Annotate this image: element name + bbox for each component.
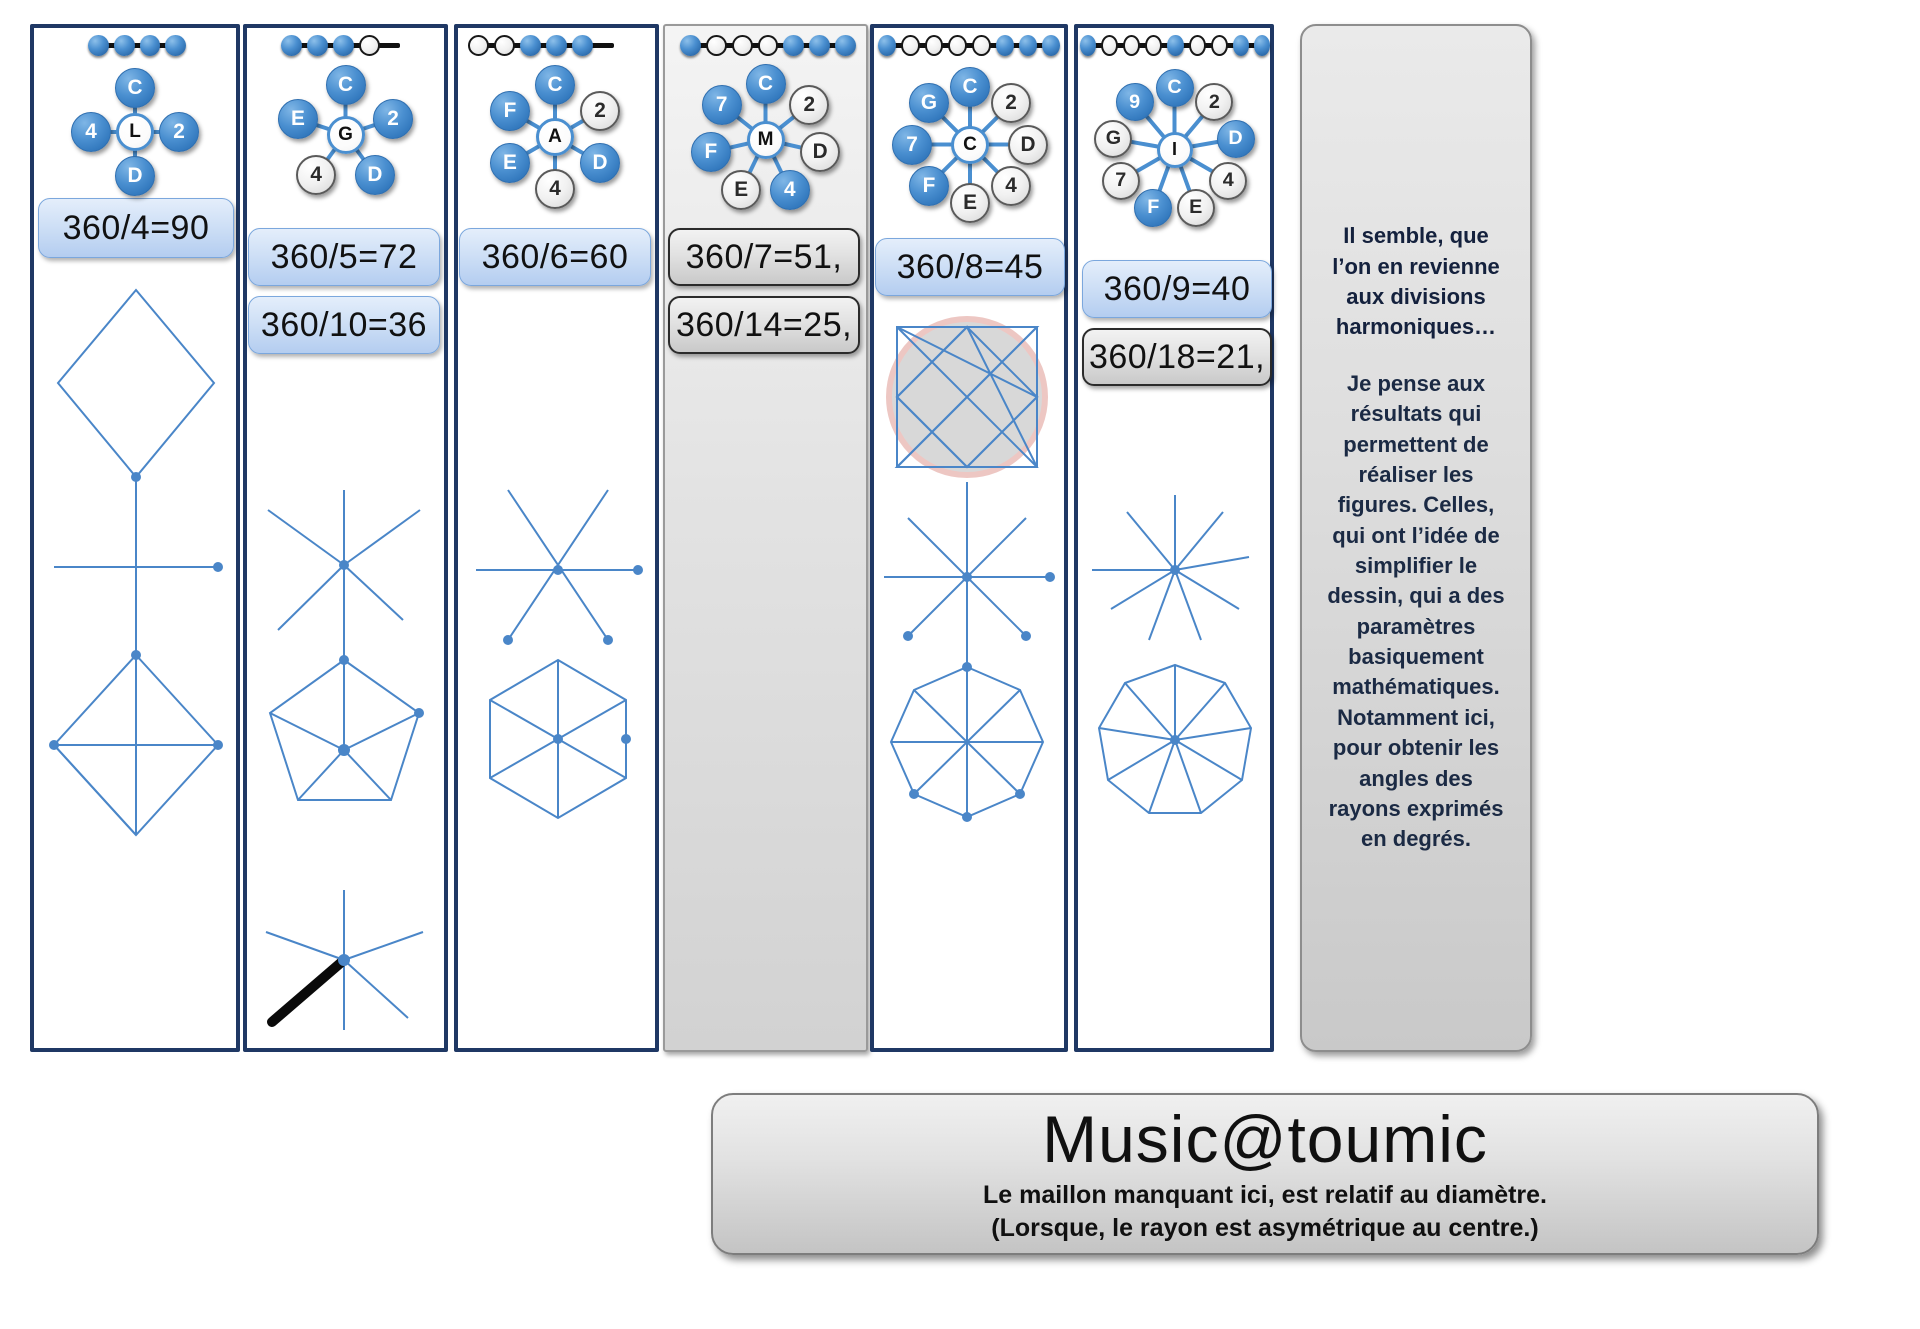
node-graph-5: C2D4EG bbox=[263, 62, 428, 207]
formula-360-10[interactable]: 360/10=36 bbox=[248, 296, 440, 354]
side-note-paragraph-2: Je pense aux résultats qui permettent de… bbox=[1322, 369, 1510, 855]
figure-group-8 bbox=[872, 312, 1067, 852]
bead-filled[interactable] bbox=[835, 35, 856, 56]
graph-node-C[interactable]: C bbox=[950, 67, 990, 107]
bead-hollow[interactable] bbox=[359, 35, 380, 56]
graph-node-C[interactable]: C bbox=[115, 68, 155, 108]
graph-node-2[interactable]: 2 bbox=[159, 112, 199, 152]
bead-filled[interactable] bbox=[783, 35, 804, 56]
bead-hollow[interactable] bbox=[901, 35, 920, 56]
bead-hollow[interactable] bbox=[706, 35, 727, 56]
graph-node-4[interactable]: 4 bbox=[770, 170, 810, 210]
formula-360-4[interactable]: 360/4=90 bbox=[38, 198, 234, 258]
figure-group-4 bbox=[36, 270, 236, 870]
figure-group-9 bbox=[1080, 480, 1275, 850]
graph-node-C[interactable]: C bbox=[535, 65, 575, 105]
bead-filled[interactable] bbox=[1167, 35, 1183, 56]
graph-node-C[interactable]: C bbox=[1156, 69, 1194, 107]
graph-node-2[interactable]: 2 bbox=[789, 85, 829, 125]
slide-canvas: C2D4L 360/4=90 bbox=[0, 0, 1920, 1329]
graph-node-4[interactable]: 4 bbox=[1209, 162, 1247, 200]
graph-node-C[interactable]: C bbox=[326, 65, 366, 105]
graph-node-D[interactable]: D bbox=[800, 132, 840, 172]
banner-subtitle-1: Le maillon manquant ici, est relatif au … bbox=[983, 1181, 1547, 1210]
formula-360-18[interactable]: 360/18=21, bbox=[1082, 328, 1272, 386]
graph-node-E[interactable]: E bbox=[721, 170, 761, 210]
bead-filled[interactable] bbox=[165, 35, 186, 56]
graph-node-E[interactable]: E bbox=[490, 143, 530, 183]
node-graph-9: C2D4EF7G9I bbox=[1082, 62, 1267, 237]
formula-360-14[interactable]: 360/14=25, bbox=[668, 296, 860, 354]
formula-360-9[interactable]: 360/9=40 bbox=[1082, 260, 1272, 318]
title-banner[interactable]: Music@toumic Le maillon manquant ici, es… bbox=[711, 1093, 1819, 1255]
bead-hollow[interactable] bbox=[925, 35, 944, 56]
bead-filled[interactable] bbox=[1080, 35, 1096, 56]
graph-node-D[interactable]: D bbox=[355, 155, 395, 195]
bead-filled[interactable] bbox=[1042, 35, 1060, 56]
bead-filled[interactable] bbox=[1254, 35, 1270, 56]
graph-node-E[interactable]: E bbox=[950, 183, 990, 223]
graph-node-4[interactable]: 4 bbox=[71, 112, 111, 152]
bead-hollow[interactable] bbox=[1101, 35, 1118, 56]
graph-node-E[interactable]: E bbox=[278, 99, 318, 139]
bead-strip-5 bbox=[281, 34, 406, 56]
bead-filled[interactable] bbox=[996, 35, 1014, 56]
banner-subtitle-2: (Lorsque, le rayon est asymétrique au ce… bbox=[991, 1214, 1538, 1243]
graph-node-7[interactable]: 7 bbox=[1102, 162, 1140, 200]
side-note-paragraph-1: Il semble, que l’on en revienne aux divi… bbox=[1322, 221, 1510, 342]
bead-strip-8 bbox=[878, 34, 1060, 56]
bead-filled[interactable] bbox=[1019, 35, 1037, 56]
graph-center-node-M[interactable]: M bbox=[747, 121, 785, 159]
bead-strip-4 bbox=[88, 34, 186, 56]
bead-hollow[interactable] bbox=[948, 35, 967, 56]
bead-filled[interactable] bbox=[809, 35, 830, 56]
graph-node-F[interactable]: F bbox=[691, 132, 731, 172]
graph-node-C[interactable]: C bbox=[746, 64, 786, 104]
graph-node-D[interactable]: D bbox=[1008, 125, 1048, 165]
graph-center-node-C[interactable]: C bbox=[951, 126, 989, 164]
graph-center-node-G[interactable]: G bbox=[327, 116, 365, 154]
figure-group-5 bbox=[248, 470, 448, 1030]
graph-node-4[interactable]: 4 bbox=[535, 169, 575, 209]
bead-filled[interactable] bbox=[88, 35, 109, 56]
graph-node-2[interactable]: 2 bbox=[580, 91, 620, 131]
graph-node-G[interactable]: G bbox=[1094, 120, 1132, 158]
bead-hollow[interactable] bbox=[1145, 35, 1162, 56]
graph-node-4[interactable]: 4 bbox=[296, 155, 336, 195]
formula-360-5[interactable]: 360/5=72 bbox=[248, 228, 440, 286]
graph-node-2[interactable]: 2 bbox=[373, 99, 413, 139]
bead-filled[interactable] bbox=[333, 35, 354, 56]
graph-node-F[interactable]: F bbox=[1134, 189, 1172, 227]
bead-hollow[interactable] bbox=[758, 35, 779, 56]
bead-filled[interactable] bbox=[572, 35, 593, 56]
graph-node-4[interactable]: 4 bbox=[991, 166, 1031, 206]
graph-node-7[interactable]: 7 bbox=[892, 125, 932, 165]
banner-title: Music@toumic bbox=[1042, 1105, 1488, 1174]
bead-filled[interactable] bbox=[878, 35, 896, 56]
graph-node-7[interactable]: 7 bbox=[702, 85, 742, 125]
graph-center-node-A[interactable]: A bbox=[536, 118, 574, 156]
bead-hollow[interactable] bbox=[1211, 35, 1228, 56]
bead-strip-6 bbox=[468, 34, 620, 56]
graph-node-F[interactable]: F bbox=[490, 91, 530, 131]
bead-hollow[interactable] bbox=[494, 35, 515, 56]
bead-filled[interactable] bbox=[680, 35, 701, 56]
bead-hollow[interactable] bbox=[732, 35, 753, 56]
graph-node-9[interactable]: 9 bbox=[1116, 83, 1154, 121]
bead-filled[interactable] bbox=[140, 35, 161, 56]
bead-hollow[interactable] bbox=[972, 35, 991, 56]
bead-filled[interactable] bbox=[1233, 35, 1249, 56]
graph-center-node-L[interactable]: L bbox=[116, 113, 154, 151]
graph-node-F[interactable]: F bbox=[909, 166, 949, 206]
bead-filled[interactable] bbox=[520, 35, 541, 56]
bead-hollow[interactable] bbox=[468, 35, 489, 56]
bead-filled[interactable] bbox=[307, 35, 328, 56]
graph-node-D[interactable]: D bbox=[580, 143, 620, 183]
node-graph-4: C2D4L bbox=[70, 62, 200, 202]
graph-center-node-I[interactable]: I bbox=[1157, 132, 1193, 168]
node-graph-8: C2D4EF7GC bbox=[880, 62, 1060, 227]
node-graph-7: C2D4EF7M bbox=[678, 62, 853, 217]
side-note-panel: Il semble, que l’on en revienne aux divi… bbox=[1300, 24, 1532, 1052]
graph-node-D[interactable]: D bbox=[115, 156, 155, 196]
graph-node-D[interactable]: D bbox=[1217, 120, 1255, 158]
graph-node-E[interactable]: E bbox=[1177, 189, 1215, 227]
formula-360-8[interactable]: 360/8=45 bbox=[875, 238, 1065, 296]
figure-group-6 bbox=[458, 470, 658, 870]
formula-360-7[interactable]: 360/7=51, bbox=[668, 228, 860, 286]
bead-filled[interactable] bbox=[281, 35, 302, 56]
bead-strip-9 bbox=[1080, 34, 1270, 56]
bead-filled[interactable] bbox=[546, 35, 567, 56]
formula-360-6[interactable]: 360/6=60 bbox=[459, 228, 651, 286]
bead-hollow[interactable] bbox=[1123, 35, 1140, 56]
bead-hollow[interactable] bbox=[1189, 35, 1206, 56]
bead-filled[interactable] bbox=[114, 35, 135, 56]
node-graph-6: C2D4EFA bbox=[470, 62, 640, 212]
bead-strip-7 bbox=[680, 34, 856, 56]
